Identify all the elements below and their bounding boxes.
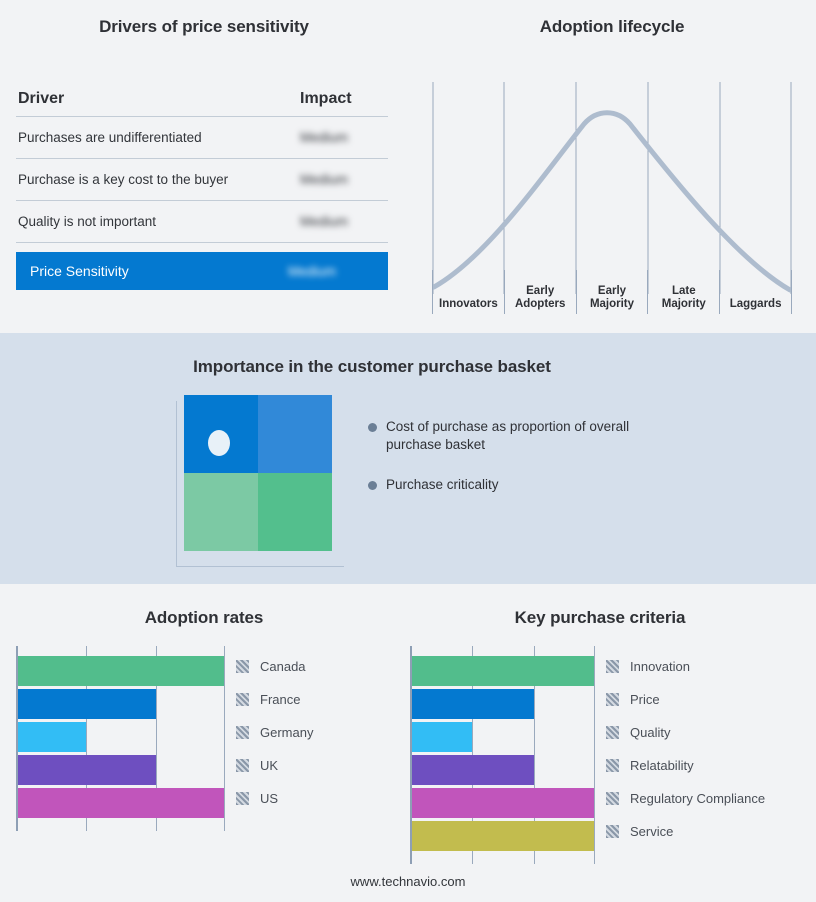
stage-label: Early Adopters <box>515 285 565 311</box>
legend-label: Service <box>630 824 673 839</box>
legend-item: Innovation <box>606 650 765 683</box>
gridline <box>594 646 595 864</box>
legend-label: Cost of purchase as proportion of overal… <box>386 418 646 454</box>
bar-row <box>412 821 594 851</box>
legend-item: France <box>236 683 313 716</box>
legend-swatch-icon <box>606 726 619 739</box>
table-row: Quality is not important Medium <box>16 201 388 242</box>
bar-uk <box>18 755 156 785</box>
legend-swatch-icon <box>236 693 249 706</box>
gridline <box>224 646 225 831</box>
quadrant-bottom-right <box>258 473 332 551</box>
bar-row <box>412 755 594 785</box>
basket-legend: Cost of purchase as proportion of overal… <box>368 418 668 516</box>
bar-row <box>18 722 224 752</box>
bar-france <box>18 689 156 719</box>
bar-price <box>412 689 534 719</box>
legend-swatch-icon <box>606 825 619 838</box>
legend-swatch-icon <box>236 726 249 739</box>
bullet-icon <box>368 423 377 432</box>
plot-frame <box>16 646 222 831</box>
impact-value: Medium <box>300 130 386 145</box>
lifecycle-stage-late-majority: Late Majority <box>647 270 719 314</box>
legend-item: Service <box>606 815 765 848</box>
legend-item: Purchase criticality <box>368 476 668 494</box>
bar-row <box>18 689 224 719</box>
key-purchase-criteria-title: Key purchase criteria <box>400 608 800 628</box>
column-header-impact: Impact <box>300 90 386 108</box>
legend-label: Purchase criticality <box>386 476 499 494</box>
impact-value: Medium <box>300 214 386 229</box>
legend-swatch-icon <box>606 693 619 706</box>
bar-regulatory-compliance <box>412 788 594 818</box>
driver-name: Quality is not important <box>18 214 300 229</box>
legend-swatch-icon <box>606 792 619 805</box>
legend-label: US <box>260 791 278 806</box>
legend-item: Regulatory Compliance <box>606 782 765 815</box>
bar-row <box>18 755 224 785</box>
driver-name: Purchases are undifferentiated <box>18 130 300 145</box>
stage-label: Late Majority <box>662 285 706 311</box>
quadrant-matrix <box>176 395 351 567</box>
legend-label: UK <box>260 758 278 773</box>
key-purchase-criteria-plot <box>410 646 592 864</box>
lifecycle-curve-plot <box>432 82 792 292</box>
quadrant-bottom-left <box>184 473 258 551</box>
bar-row <box>18 656 224 686</box>
legend-item: Cost of purchase as proportion of overal… <box>368 418 668 454</box>
bar-row <box>412 689 594 719</box>
legend-item: Relatability <box>606 749 765 782</box>
infographic-page: Drivers of price sensitivity Driver Impa… <box>0 0 816 902</box>
legend-swatch-icon <box>606 660 619 673</box>
stage-label: Innovators <box>439 298 498 311</box>
driver-name: Purchase is a key cost to the buyer <box>18 172 300 187</box>
legend-item: Quality <box>606 716 765 749</box>
bar-germany <box>18 722 86 752</box>
legend-item: US <box>236 782 313 815</box>
quadrant-top-right <box>258 395 332 473</box>
table-row: Purchase is a key cost to the buyer Medi… <box>16 159 388 200</box>
legend-label: Price <box>630 692 660 707</box>
quadrant-cells <box>184 395 332 551</box>
drivers-panel: Drivers of price sensitivity Driver Impa… <box>0 0 408 333</box>
adoption-rates-plot <box>16 646 222 831</box>
bar-service <box>412 821 594 851</box>
position-marker <box>208 430 230 456</box>
stage-label: Early Majority <box>590 285 634 311</box>
key-purchase-criteria-legend: InnovationPriceQualityRelatabilityRegula… <box>606 650 765 848</box>
bar-row <box>412 788 594 818</box>
adoption-rates-legend: CanadaFranceGermanyUKUS <box>236 650 313 815</box>
legend-label: France <box>260 692 300 707</box>
column-header-driver: Driver <box>18 90 300 108</box>
bar-innovation <box>412 656 594 686</box>
price-sensitivity-summary-row: Price Sensitivity Medium <box>16 252 388 290</box>
adoption-rates-title: Adoption rates <box>0 608 408 628</box>
legend-swatch-icon <box>236 792 249 805</box>
legend-label: Innovation <box>630 659 690 674</box>
key-purchase-criteria-panel: Key purchase criteria InnovationPriceQua… <box>400 584 816 902</box>
legend-label: Relatability <box>630 758 694 773</box>
row-divider <box>16 242 388 243</box>
lifecycle-stage-early-adopters: Early Adopters <box>504 270 576 314</box>
legend-item: UK <box>236 749 313 782</box>
bar-relatability <box>412 755 534 785</box>
lifecycle-stage-innovators: Innovators <box>432 270 504 314</box>
basket-panel-title: Importance in the customer purchase bask… <box>0 357 744 377</box>
summary-label: Price Sensitivity <box>30 263 288 279</box>
bar-quality <box>412 722 472 752</box>
legend-item: Price <box>606 683 765 716</box>
table-row: Purchases are undifferentiated Medium <box>16 117 388 158</box>
adoption-rates-panel: Adoption rates CanadaFranceGermanyUKUS <box>0 584 408 902</box>
bar-row <box>412 656 594 686</box>
legend-label: Quality <box>630 725 670 740</box>
legend-swatch-icon <box>236 759 249 772</box>
drivers-table: Driver Impact Purchases are undifferenti… <box>16 90 388 290</box>
plot-frame <box>410 646 592 864</box>
legend-label: Regulatory Compliance <box>630 791 765 806</box>
adoption-lifecycle-panel: Adoption lifecycle Innovators Early Ado <box>408 0 816 333</box>
stage-label: Laggards <box>730 298 782 311</box>
legend-item: Germany <box>236 716 313 749</box>
bullet-icon <box>368 481 377 490</box>
lifecycle-stage-labels: Innovators Early Adopters Early Majority… <box>432 270 792 314</box>
drivers-panel-title: Drivers of price sensitivity <box>0 17 408 37</box>
table-header-row: Driver Impact <box>16 90 388 116</box>
bar-canada <box>18 656 224 686</box>
bar-row <box>18 788 224 818</box>
lifecycle-stage-laggards: Laggards <box>719 270 792 314</box>
legend-swatch-icon <box>606 759 619 772</box>
bar-us <box>18 788 224 818</box>
lifecycle-stage-early-majority: Early Majority <box>576 270 648 314</box>
legend-label: Canada <box>260 659 306 674</box>
legend-label: Germany <box>260 725 313 740</box>
legend-swatch-icon <box>236 660 249 673</box>
lifecycle-panel-title: Adoption lifecycle <box>408 17 816 37</box>
bar-row <box>412 722 594 752</box>
bell-curve <box>434 113 790 290</box>
footer-url: www.technavio.com <box>0 874 816 889</box>
summary-impact-value: Medium <box>288 264 374 279</box>
legend-item: Canada <box>236 650 313 683</box>
impact-value: Medium <box>300 172 386 187</box>
